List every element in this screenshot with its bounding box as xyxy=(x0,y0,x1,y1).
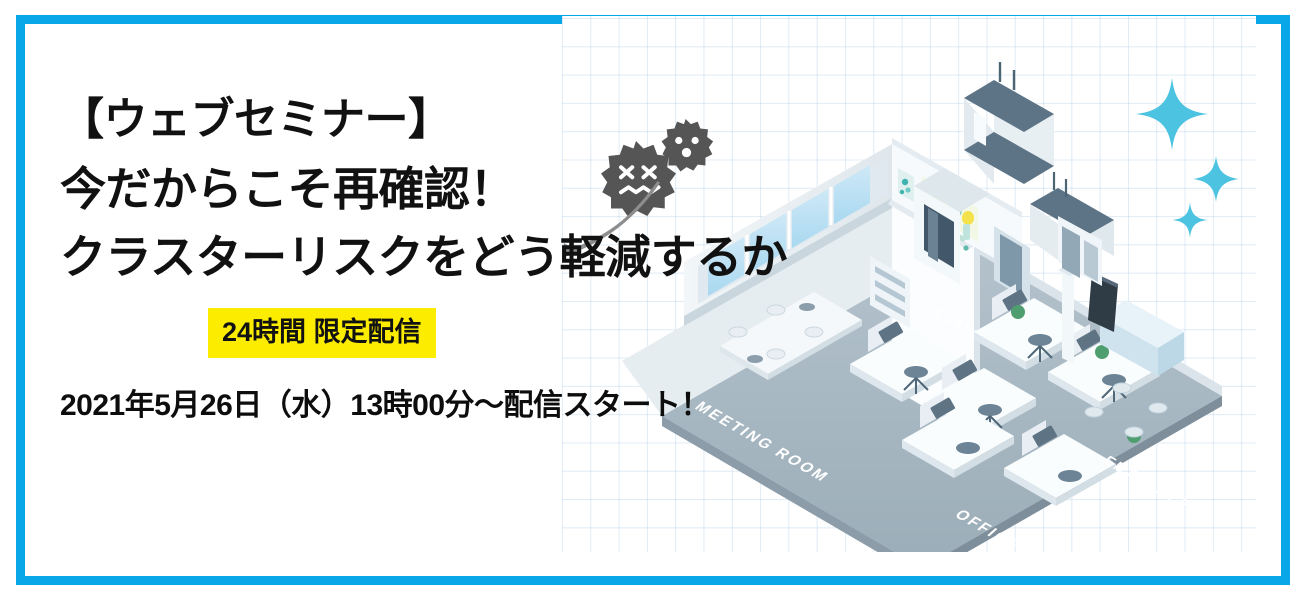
webinar-banner: MEETING ROOM xyxy=(0,0,1300,600)
headline-block: 【ウェブセミナー】 今だからこそ再確認！ クラスターリスクをどう軽減するか 24… xyxy=(60,92,760,424)
limited-broadcast-badge: 24時間 限定配信 xyxy=(208,308,436,358)
floor-label-entrance: ENTRANCE xyxy=(1099,454,1195,513)
headline-line-1: 【ウェブセミナー】 xyxy=(60,92,760,148)
badge-row: 24時間 限定配信 xyxy=(208,308,760,358)
sparkle-small xyxy=(1172,202,1208,238)
schedule-line: 2021年5月26日（水）13時00分〜配信スタート！ xyxy=(60,380,760,424)
headline-line-2: 今だからこそ再確認！ xyxy=(60,160,760,218)
sparkle-large xyxy=(1136,78,1208,150)
svg-text:ENTRANCE: ENTRANCE xyxy=(1099,454,1195,513)
sparkle-medium xyxy=(1193,156,1239,202)
headline-line-3: クラスターリスクをどう軽減するか xyxy=(60,228,760,286)
